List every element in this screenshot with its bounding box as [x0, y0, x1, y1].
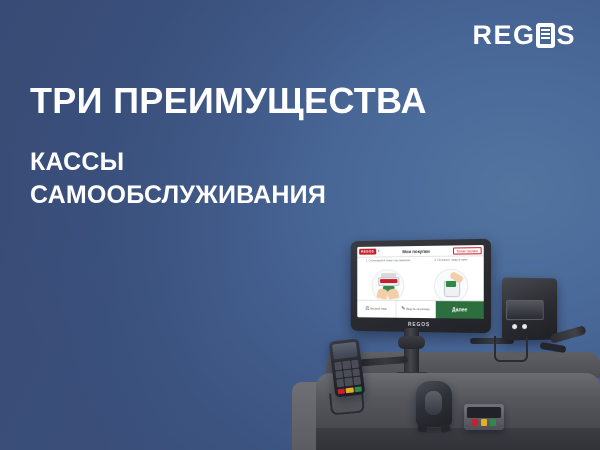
monitor-bezel: REGOS: [351, 317, 491, 333]
kiosk-monitor: REGOS ‹ Мои покупки Тилни танланг 1. Отс…: [351, 239, 491, 333]
subtitle-line-1: КАССЫ: [30, 146, 326, 179]
screen-regos-logo: REGOS: [359, 249, 376, 255]
step-1-label: 1. Отсканируйте товар под сканером: [357, 257, 419, 266]
scanner-window: [425, 391, 442, 415]
printer-led-icon: [512, 324, 517, 329]
barcode-scanner: [416, 381, 452, 427]
manual-entry-button[interactable]: ✎ Ввод без штрихкода: [396, 301, 436, 318]
scale-icon: ⚖: [365, 307, 369, 312]
kiosk-touchscreen[interactable]: REGOS ‹ Мои покупки Тилни танланг 1. Отс…: [357, 245, 483, 319]
printer-paper-slot: [506, 300, 544, 320]
slide-canvas: REG S ТРИ ПРЕИМУЩЕСТВА КАССЫ САМООБСЛУЖИ…: [0, 0, 600, 450]
screen-title: Мои покупки: [380, 248, 453, 254]
language-button[interactable]: Тилни танланг: [453, 247, 482, 255]
logo-text-before: REG: [472, 20, 535, 51]
page-subtitle: КАССЫ САМООБСЛУЖИВАНИЯ: [30, 146, 326, 212]
weight-product-label: Весовой товар: [370, 308, 386, 311]
pencil-icon: ✎: [401, 307, 405, 312]
terminal-function-keys: [338, 386, 362, 394]
terminal-display: [332, 342, 358, 360]
terminal-keypad: [334, 360, 361, 388]
keypad-color-buttons: [469, 419, 499, 426]
regos-logo: REG S: [472, 20, 576, 51]
payment-terminal: [329, 338, 366, 397]
step-2-label: 2. Положите товар в пакет: [419, 256, 484, 266]
receipt-printer: [502, 277, 557, 340]
weight-product-button[interactable]: ⚖ Весовой товар: [357, 301, 396, 318]
manual-entry-label: Ввод без штрихкода: [406, 308, 429, 311]
receipt-o-icon: [536, 23, 555, 48]
kiosk-scene: REGOS ‹ Мои покупки Тилни танланг 1. Отс…: [0, 0, 600, 450]
printer-led-secondary-icon: [522, 324, 527, 329]
place-in-bag-icon: [434, 269, 468, 304]
printer-bracket: [494, 336, 528, 362]
keypad-display: [467, 407, 501, 418]
counter-front: [316, 428, 600, 450]
scan-product-icon: [371, 269, 404, 303]
page-title: ТРИ ПРЕИМУЩЕСТВА: [30, 82, 427, 120]
subtitle-line-2: САМООБСЛУЖИВАНИЯ: [30, 179, 326, 212]
next-button[interactable]: Далее: [436, 301, 484, 319]
monitor-pole-joint: [398, 336, 425, 349]
customer-keypad: [464, 404, 504, 430]
screen-actions: ⚖ Весовой товар ✎ Ввод без штрихкода Дал…: [357, 300, 483, 319]
logo-text-after: S: [556, 20, 576, 51]
